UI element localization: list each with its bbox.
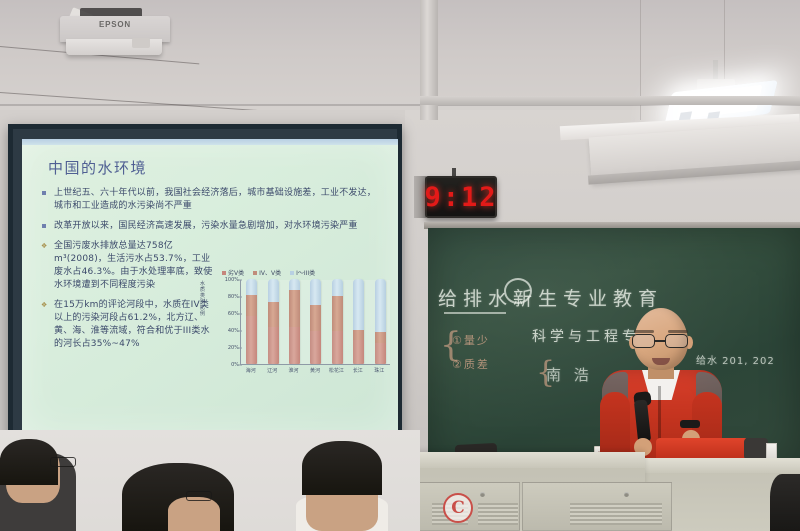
legend-label: 劣V类	[228, 268, 244, 277]
chart-y-axis-title: 水质类别比例	[198, 281, 207, 317]
bar-segment-I～III类	[268, 279, 279, 302]
stacked-bar	[246, 279, 257, 364]
bar-segment-IV、V类	[375, 332, 386, 343]
slide-bullet-text: 改革开放以来，国民经济高速发展，污染水量急剧增加，对水环境污染严重	[54, 221, 358, 231]
podium-vent-mid	[478, 503, 518, 525]
blackboard-underline	[444, 312, 506, 314]
projection-screen: 中国的水环境 上世纪五、六十年代以前，我国社会经济落后，城市基础设施差，工业不发…	[8, 124, 402, 444]
audience-glasses-icon-2	[186, 491, 212, 501]
chart-legend: 劣V类 IV、V类 I～III类	[222, 267, 390, 278]
slide-bullet-3: ❖ 全国污废水排放总量达758亿m³(2008)，生活污水占53.7%，工业废水…	[40, 240, 216, 292]
bar-segment-IV、V类	[353, 330, 364, 340]
slide-bullet-2: 改革开放以来，国民经济高速发展，污染水量急剧增加，对水环境污染严重	[40, 220, 380, 233]
chart-x-tick-label: 辽河	[264, 367, 280, 374]
bar-segment-劣V类	[268, 327, 279, 364]
red-jacket-on-chair	[656, 438, 750, 460]
slide-title: 中国的水环境	[48, 157, 147, 178]
blackboard-brace-icon-2: {	[536, 358, 555, 388]
bar-segment-劣V类	[246, 316, 257, 364]
bar-segment-I～III类	[375, 279, 386, 332]
podium-lock-left[interactable]	[480, 492, 485, 497]
bar-segment-I～III类	[289, 279, 300, 290]
wall-pipe-horizontal	[420, 96, 800, 105]
legend-entry-2: I～III类	[290, 268, 315, 277]
bar-segment-I～III类	[310, 279, 321, 305]
podium-vent-right	[570, 503, 662, 525]
blackboard-brace-icon: {	[440, 328, 462, 362]
chart-x-tick-label: 淮河	[286, 367, 302, 374]
stacked-bar	[268, 279, 279, 364]
chart-bar-海河	[246, 279, 257, 364]
audience-person-2-face	[168, 497, 220, 531]
blackboard-heading: 给排水新生专业教育	[438, 284, 663, 311]
clock-time-display: 9:12	[424, 182, 497, 213]
chart-bar-松花江	[332, 279, 343, 364]
glasses-lens-left	[632, 334, 655, 348]
podium-lock-right[interactable]	[624, 492, 629, 497]
projector-lens-icon	[132, 38, 150, 48]
chart-bar-珠江	[375, 279, 386, 364]
digital-wall-clock: 9:12	[425, 176, 497, 218]
bullet-square-icon	[42, 224, 46, 228]
bar-segment-IV、V类	[268, 302, 279, 327]
bar-segment-I～III类	[246, 279, 257, 295]
bar-segment-I～III类	[353, 279, 364, 330]
bullet-square-icon	[42, 191, 46, 195]
slide-top-band	[22, 139, 398, 145]
ceiling-projector: EPSON	[60, 8, 170, 52]
chart-bar-淮河	[289, 279, 300, 364]
legend-entry-0: 劣V类	[222, 268, 244, 277]
audience-glasses-icon	[50, 457, 76, 467]
chart-plot-area: 0%20%40%60%80%100%	[240, 280, 390, 365]
slide-bullet-text: 在15万km的评论河段中，水质在IV类以上的污染河段占61.2%，北方辽、黄、海…	[54, 300, 210, 349]
wristwatch-icon	[680, 420, 700, 428]
chart-bar-辽河	[268, 279, 279, 364]
bar-segment-劣V类	[375, 343, 386, 364]
chart-bars	[241, 279, 391, 364]
legend-swatch-icon	[253, 271, 257, 275]
stacked-bar	[375, 279, 386, 364]
glasses-lens-right	[665, 334, 688, 348]
legend-label: I～III类	[296, 268, 315, 277]
podium-logo: C	[443, 493, 473, 523]
legend-label: IV、V类	[259, 268, 281, 277]
presenter-brow-left	[634, 330, 654, 333]
chair-back	[744, 438, 768, 460]
bar-segment-IV、V类	[289, 290, 300, 327]
bar-segment-I～III类	[332, 279, 343, 296]
presentation-slide: 中国的水环境 上世纪五、六十年代以前，我国社会经济落后，城市基础设施差，工业不发…	[22, 139, 398, 435]
bar-segment-劣V类	[310, 331, 321, 364]
bar-segment-劣V类	[332, 331, 343, 364]
audience-person-3-hair	[302, 441, 382, 495]
stacked-bar	[289, 279, 300, 364]
glasses-icon	[632, 334, 690, 348]
projector-brand-label: EPSON	[60, 20, 170, 29]
bullet-diamond-icon: ❖	[41, 243, 47, 249]
water-quality-stacked-bar-chart: 劣V类 IV、V类 I～III类 水质类别比例 0%20%40%6	[218, 267, 390, 387]
podium-desk-top	[400, 452, 645, 468]
bar-segment-劣V类	[289, 327, 300, 364]
chart-x-tick-label: 海河	[243, 367, 259, 374]
chart-bar-长江	[353, 279, 364, 364]
slide-bullet-text: 上世纪五、六十年代以前，我国社会经济落后，城市基础设施差，工业不发达，城市和工业…	[54, 188, 376, 211]
chart-x-tick-label: 长江	[350, 367, 366, 374]
chart-bar-黄河	[310, 279, 321, 364]
presenter-brow-right	[668, 330, 688, 333]
chart-x-tick-label: 松花江	[328, 367, 344, 374]
blackboard-orange-item-1: ①量少	[452, 332, 490, 348]
bullet-diamond-icon: ❖	[41, 302, 47, 308]
side-desk-top	[620, 458, 800, 473]
classroom-scene: EPSON 中国的水环境 上世纪五、六十年代以前，我国社会经济落后，城	[0, 0, 800, 531]
chart-y-tick-mark	[239, 365, 242, 366]
stacked-bar	[353, 279, 364, 364]
legend-swatch-icon	[222, 271, 226, 275]
bar-segment-IV、V类	[310, 305, 321, 331]
slide-bullet-text: 全国污废水排放总量达758亿m³(2008)，生活污水占53.7%，工业废水占4…	[54, 241, 212, 290]
bar-segment-IV、V类	[332, 296, 343, 331]
foreground-head-right	[770, 474, 800, 531]
legend-entry-1: IV、V类	[253, 268, 281, 277]
bar-segment-劣V类	[353, 340, 364, 364]
chart-x-tick-label: 黄河	[307, 367, 323, 374]
slide-bullet-1: 上世纪五、六十年代以前，我国社会经济落后，城市基础设施差，工业不发达，城市和工业…	[40, 187, 380, 213]
blackboard-circle-annotation	[504, 278, 532, 304]
glasses-bridge	[655, 340, 665, 342]
legend-swatch-icon	[290, 271, 294, 275]
stacked-bar	[332, 279, 343, 364]
chart-x-tick-label: 珠江	[371, 367, 387, 374]
slide-bullet-4: ❖ 在15万km的评论河段中，水质在IV类以上的污染河段占61.2%，北方辽、黄…	[40, 299, 216, 351]
blackboard-subheading-2: 南 浩	[546, 364, 593, 385]
stacked-bar	[310, 279, 321, 364]
bar-segment-IV、V类	[246, 295, 257, 315]
blackboard-orange-item-2: ②质差	[452, 356, 490, 372]
screen-inner-border: 中国的水环境 上世纪五、六十年代以前，我国社会经济落后，城市基础设施差，工业不发…	[13, 129, 397, 439]
chart-x-axis-labels: 海河辽河淮河黄河松花江长江珠江	[240, 367, 390, 374]
